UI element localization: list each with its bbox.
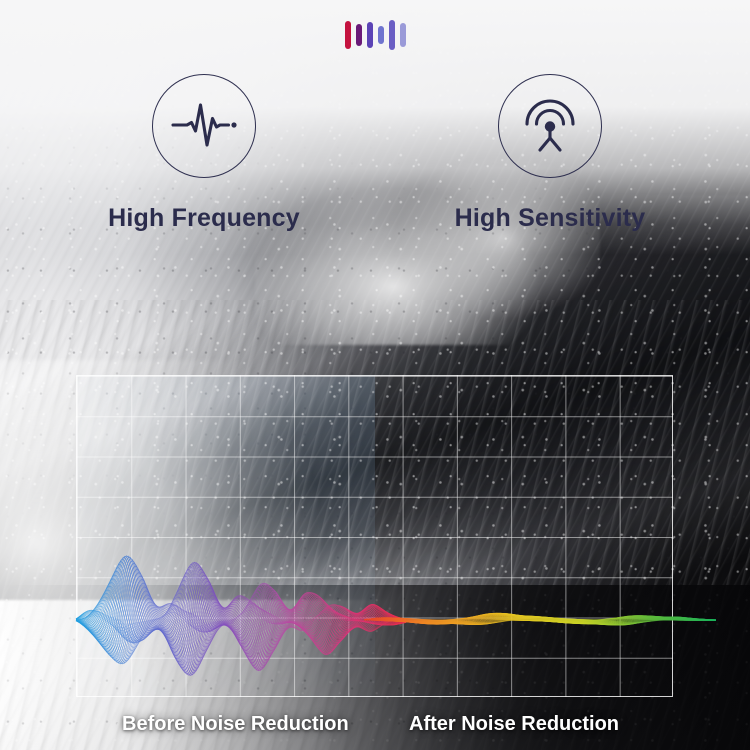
feature-label: High Frequency bbox=[54, 204, 354, 233]
waveform-comparison-plot bbox=[76, 470, 716, 700]
logo-bar-4 bbox=[389, 20, 395, 50]
feature-high-sensitivity: High Sensitivity bbox=[400, 74, 700, 233]
feature-high-frequency: High Frequency bbox=[54, 74, 354, 233]
antenna-signal-icon bbox=[519, 93, 581, 160]
waveform-after bbox=[364, 613, 716, 625]
pulse-waveform-icon bbox=[171, 98, 237, 155]
waveform-before bbox=[76, 556, 406, 676]
feature-label: High Sensitivity bbox=[400, 204, 700, 233]
logo-bar-0 bbox=[345, 21, 351, 49]
caption-after-noise-reduction: After Noise Reduction bbox=[409, 713, 619, 736]
logo-bar-3 bbox=[378, 26, 384, 44]
equalizer-bars-logo bbox=[0, 18, 750, 52]
feature-panel: High Frequency High Sensitivity bbox=[0, 0, 750, 750]
caption-before-noise-reduction: Before Noise Reduction bbox=[122, 713, 349, 736]
logo-bar-5 bbox=[400, 23, 406, 47]
feature-icon-ring bbox=[498, 74, 602, 178]
logo-bar-2 bbox=[367, 22, 373, 48]
feature-icon-ring bbox=[152, 74, 256, 178]
logo-bar-1 bbox=[356, 24, 362, 46]
